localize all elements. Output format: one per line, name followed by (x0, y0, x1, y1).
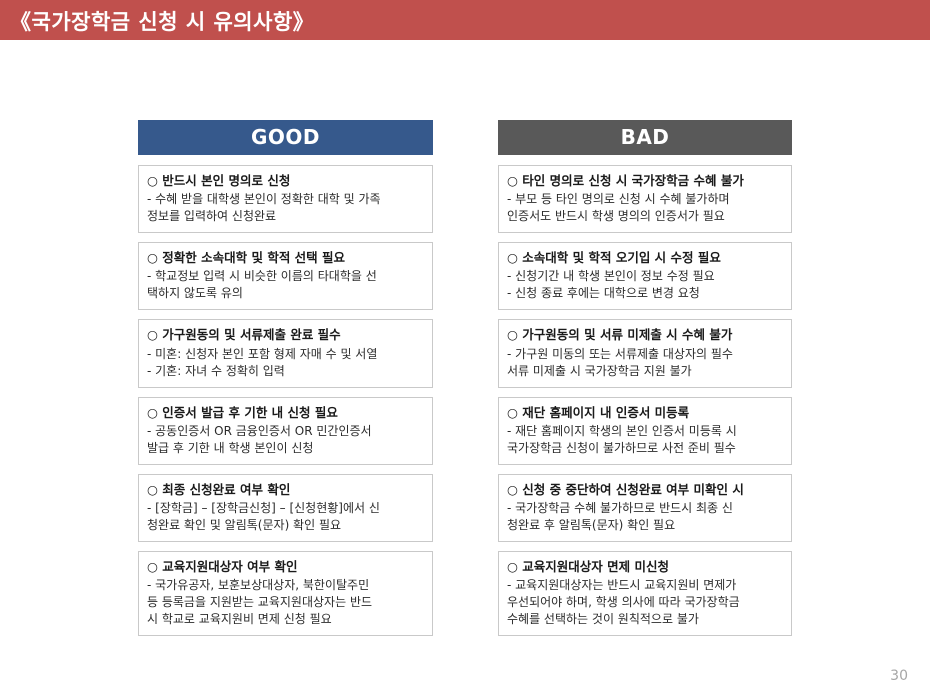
bad-card-6-line-3: 수혜를 선택하는 것이 원칙적으로 불가 (507, 611, 783, 628)
good-card-list: ○ 반드시 본인 명의로 신청 - 수혜 받을 대학생 본인이 정확한 대학 및… (138, 165, 433, 636)
good-card-3-line-1: - 미혼: 신청자 본인 포함 형제 자매 수 및 서열 (147, 346, 424, 363)
bad-card-2-line-2: - 신청 종료 후에는 대학으로 변경 요청 (507, 285, 783, 302)
bad-card-6-line-1: - 교육지원대상자는 반드시 교육지원비 면제가 (507, 577, 783, 594)
bad-card-1-title: ○ 타인 명의로 신청 시 국가장학금 수혜 불가 (507, 172, 783, 190)
good-card-2-title: ○ 정확한 소속대학 및 학적 선택 필요 (147, 249, 424, 267)
good-card-3: ○ 가구원동의 및 서류제출 완료 필수 - 미혼: 신청자 본인 포함 형제 … (138, 319, 433, 387)
good-card-1-line-1: - 수혜 받을 대학생 본인이 정확한 대학 및 가족 (147, 191, 424, 208)
bad-card-6: ○ 교육지원대상자 면제 미신청 - 교육지원대상자는 반드시 교육지원비 면제… (498, 551, 792, 636)
bad-card-3-line-1: - 가구원 미동의 또는 서류제출 대상자의 필수 (507, 346, 783, 363)
bad-card-4-title: ○ 재단 홈페이지 내 인증서 미등록 (507, 404, 783, 422)
bad-card-1-line-1: - 부모 등 타인 명의로 신청 시 수혜 불가하며 (507, 191, 783, 208)
good-card-1-title: ○ 반드시 본인 명의로 신청 (147, 172, 424, 190)
bad-card-1: ○ 타인 명의로 신청 시 국가장학금 수혜 불가 - 부모 등 타인 명의로 … (498, 165, 792, 233)
bad-card-6-title: ○ 교육지원대상자 면제 미신청 (507, 558, 783, 576)
good-card-6: ○ 교육지원대상자 여부 확인 - 국가유공자, 보훈보상대상자, 북한이탈주민… (138, 551, 433, 636)
good-card-5: ○ 최종 신청완료 여부 확인 - [장학금] – [장학금신청] – [신청현… (138, 474, 433, 542)
bad-card-2-title: ○ 소속대학 및 학적 오기입 시 수정 필요 (507, 249, 783, 267)
good-card-4-line-2: 발급 후 기한 내 학생 본인이 신청 (147, 440, 424, 457)
page-banner: 《국가장학금 신청 시 유의사항》 (0, 0, 930, 40)
bad-card-2-line-1: - 신청기간 내 학생 본인이 정보 수정 필요 (507, 268, 783, 285)
good-card-5-line-1: - [장학금] – [장학금신청] – [신청현황]에서 신 (147, 500, 424, 517)
bad-card-2: ○ 소속대학 및 학적 오기입 시 수정 필요 - 신청기간 내 학생 본인이 … (498, 242, 792, 310)
bad-card-5-line-1: - 국가장학금 수혜 불가하므로 반드시 최종 신 (507, 500, 783, 517)
page-number: 30 (890, 668, 908, 684)
bad-card-5-title: ○ 신청 중 중단하여 신청완료 여부 미확인 시 (507, 481, 783, 499)
bad-card-4-line-2: 국가장학금 신청이 불가하므로 사전 준비 필수 (507, 440, 783, 457)
good-card-6-line-3: 시 학교로 교육지원비 면제 신청 필요 (147, 611, 424, 628)
good-column: GOOD ○ 반드시 본인 명의로 신청 - 수혜 받을 대학생 본인이 정확한… (138, 120, 433, 645)
good-card-5-line-2: 청완료 확인 및 알림톡(문자) 확인 필요 (147, 517, 424, 534)
bad-card-5-line-2: 청완료 후 알림톡(문자) 확인 필요 (507, 517, 783, 534)
good-card-6-title: ○ 교육지원대상자 여부 확인 (147, 558, 424, 576)
page-title: 《국가장학금 신청 시 유의사항》 (10, 6, 314, 36)
bad-card-4-line-1: - 재단 홈페이지 학생의 본인 인증서 미등록 시 (507, 423, 783, 440)
good-card-6-line-2: 등 등록금을 지원받는 교육지원대상자는 반드 (147, 594, 424, 611)
bad-column: BAD ○ 타인 명의로 신청 시 국가장학금 수혜 불가 - 부모 등 타인 … (498, 120, 792, 645)
bad-card-3: ○ 가구원동의 및 서류 미제출 시 수혜 불가 - 가구원 미동의 또는 서류… (498, 319, 792, 387)
good-card-4-line-1: - 공동인증서 OR 금융인증서 OR 민간인증서 (147, 423, 424, 440)
bad-card-3-line-2: 서류 미제출 시 국가장학금 지원 불가 (507, 363, 783, 380)
good-card-2: ○ 정확한 소속대학 및 학적 선택 필요 - 학교정보 입력 시 비슷한 이름… (138, 242, 433, 310)
bad-card-5: ○ 신청 중 중단하여 신청완료 여부 미확인 시 - 국가장학금 수혜 불가하… (498, 474, 792, 542)
good-card-6-line-1: - 국가유공자, 보훈보상대상자, 북한이탈주민 (147, 577, 424, 594)
bad-column-header: BAD (498, 120, 792, 155)
bad-card-6-line-2: 우선되어야 하며, 학생 의사에 따라 국가장학금 (507, 594, 783, 611)
good-card-2-line-2: 택하지 않도록 유의 (147, 285, 424, 302)
bad-card-list: ○ 타인 명의로 신청 시 국가장학금 수혜 불가 - 부모 등 타인 명의로 … (498, 165, 792, 636)
good-column-header: GOOD (138, 120, 433, 155)
good-card-4: ○ 인증서 발급 후 기한 내 신청 필요 - 공동인증서 OR 금융인증서 O… (138, 397, 433, 465)
bad-card-1-line-2: 인증서도 반드시 학생 명의의 인증서가 필요 (507, 208, 783, 225)
good-card-4-title: ○ 인증서 발급 후 기한 내 신청 필요 (147, 404, 424, 422)
good-card-2-line-1: - 학교정보 입력 시 비슷한 이름의 타대학을 선 (147, 268, 424, 285)
bad-card-3-title: ○ 가구원동의 및 서류 미제출 시 수혜 불가 (507, 326, 783, 344)
good-card-1-line-2: 정보를 입력하여 신청완료 (147, 208, 424, 225)
good-card-1: ○ 반드시 본인 명의로 신청 - 수혜 받을 대학생 본인이 정확한 대학 및… (138, 165, 433, 233)
good-card-3-title: ○ 가구원동의 및 서류제출 완료 필수 (147, 326, 424, 344)
bad-card-4: ○ 재단 홈페이지 내 인증서 미등록 - 재단 홈페이지 학생의 본인 인증서… (498, 397, 792, 465)
good-card-3-line-2: - 기혼: 자녀 수 정확히 입력 (147, 363, 424, 380)
good-card-5-title: ○ 최종 신청완료 여부 확인 (147, 481, 424, 499)
